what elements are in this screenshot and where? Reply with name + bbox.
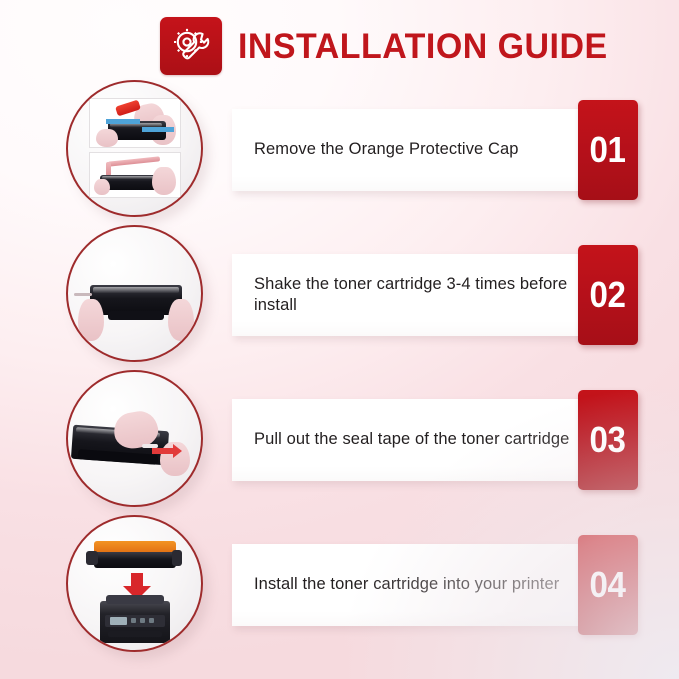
gear-wrench-icon xyxy=(160,17,222,75)
step-row: Shake the toner cartridge 3-4 times befo… xyxy=(0,223,679,368)
step-number: 03 xyxy=(590,422,626,458)
page-title: INSTALLATION GUIDE xyxy=(238,29,608,64)
page-header: INSTALLATION GUIDE xyxy=(160,17,619,75)
step-number-badge: 01 xyxy=(578,100,638,200)
step-card: Remove the Orange Protective Cap xyxy=(232,109,612,191)
step-number-badge: 03 xyxy=(578,390,638,490)
step-text: Remove the Orange Protective Cap xyxy=(232,139,541,160)
install-into-printer-photo xyxy=(66,515,203,652)
step-number-badge: 04 xyxy=(578,535,638,635)
installation-guide-page: INSTALLATION GUIDE xyxy=(0,0,679,679)
step-text: Shake the toner cartridge 3-4 times befo… xyxy=(232,274,606,316)
remove-orange-cap-photo xyxy=(66,80,203,217)
step-card: Pull out the seal tape of the toner cart… xyxy=(232,399,612,481)
step-number: 04 xyxy=(590,567,626,603)
step-card: Install the toner cartridge into your pr… xyxy=(232,544,612,626)
steps-list: Remove the Orange Protective Cap 01 Shak… xyxy=(0,78,679,658)
step-row: Pull out the seal tape of the toner cart… xyxy=(0,368,679,513)
shake-cartridge-photo xyxy=(66,225,203,362)
pull-seal-tape-photo xyxy=(66,370,203,507)
step-row: Remove the Orange Protective Cap 01 xyxy=(0,78,679,223)
step-number: 02 xyxy=(590,277,626,313)
step-text: Install the toner cartridge into your pr… xyxy=(232,574,581,595)
step-number-badge: 02 xyxy=(578,245,638,345)
step-text: Pull out the seal tape of the toner cart… xyxy=(232,429,591,450)
step-number: 01 xyxy=(590,132,626,168)
step-card: Shake the toner cartridge 3-4 times befo… xyxy=(232,254,612,336)
step-row: Install the toner cartridge into your pr… xyxy=(0,513,679,658)
